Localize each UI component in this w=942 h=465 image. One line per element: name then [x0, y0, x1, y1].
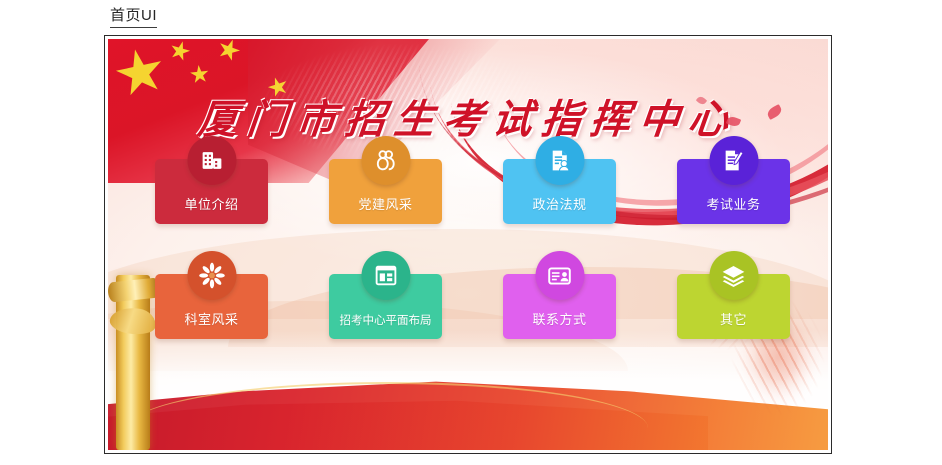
tile-label: 单位介绍	[155, 194, 268, 213]
flower-icon	[187, 251, 236, 300]
document-pen-icon	[709, 136, 758, 185]
building-icon	[187, 136, 236, 185]
two-people-icon	[361, 136, 410, 185]
tile-other[interactable]: 其它	[677, 274, 790, 339]
tile-label: 联系方式	[503, 309, 616, 328]
layers-icon	[709, 251, 758, 300]
tile-political-regulations[interactable]: 政治法规	[503, 159, 616, 224]
contact-card-icon	[535, 251, 584, 300]
tile-grid: 单位介绍 党建风采	[155, 159, 789, 339]
tile-department-showcase[interactable]: 科室风采	[155, 274, 268, 339]
ui-preview-frame: 厦门市招生考试指挥中心	[104, 35, 832, 454]
tile-label: 政治法规	[503, 194, 616, 213]
tile-label: 党建风采	[329, 194, 442, 213]
document-person-icon	[535, 136, 584, 185]
tile-label: 考试业务	[677, 194, 790, 213]
page-title: 首页UI	[110, 8, 157, 28]
homepage-banner: 厦门市招生考试指挥中心	[108, 39, 828, 450]
tile-label: 招考中心平面布局	[329, 312, 442, 328]
tile-label: 科室风采	[155, 309, 268, 328]
tile-exam-business[interactable]: 考试业务	[677, 159, 790, 224]
tile-center-floorplan[interactable]: 招考中心平面布局	[329, 274, 442, 339]
tile-label: 其它	[677, 309, 790, 328]
tile-party-building[interactable]: 党建风采	[329, 159, 442, 224]
layout-grid-icon	[361, 251, 410, 300]
tile-contact[interactable]: 联系方式	[503, 274, 616, 339]
tile-unit-intro[interactable]: 单位介绍	[155, 159, 268, 224]
